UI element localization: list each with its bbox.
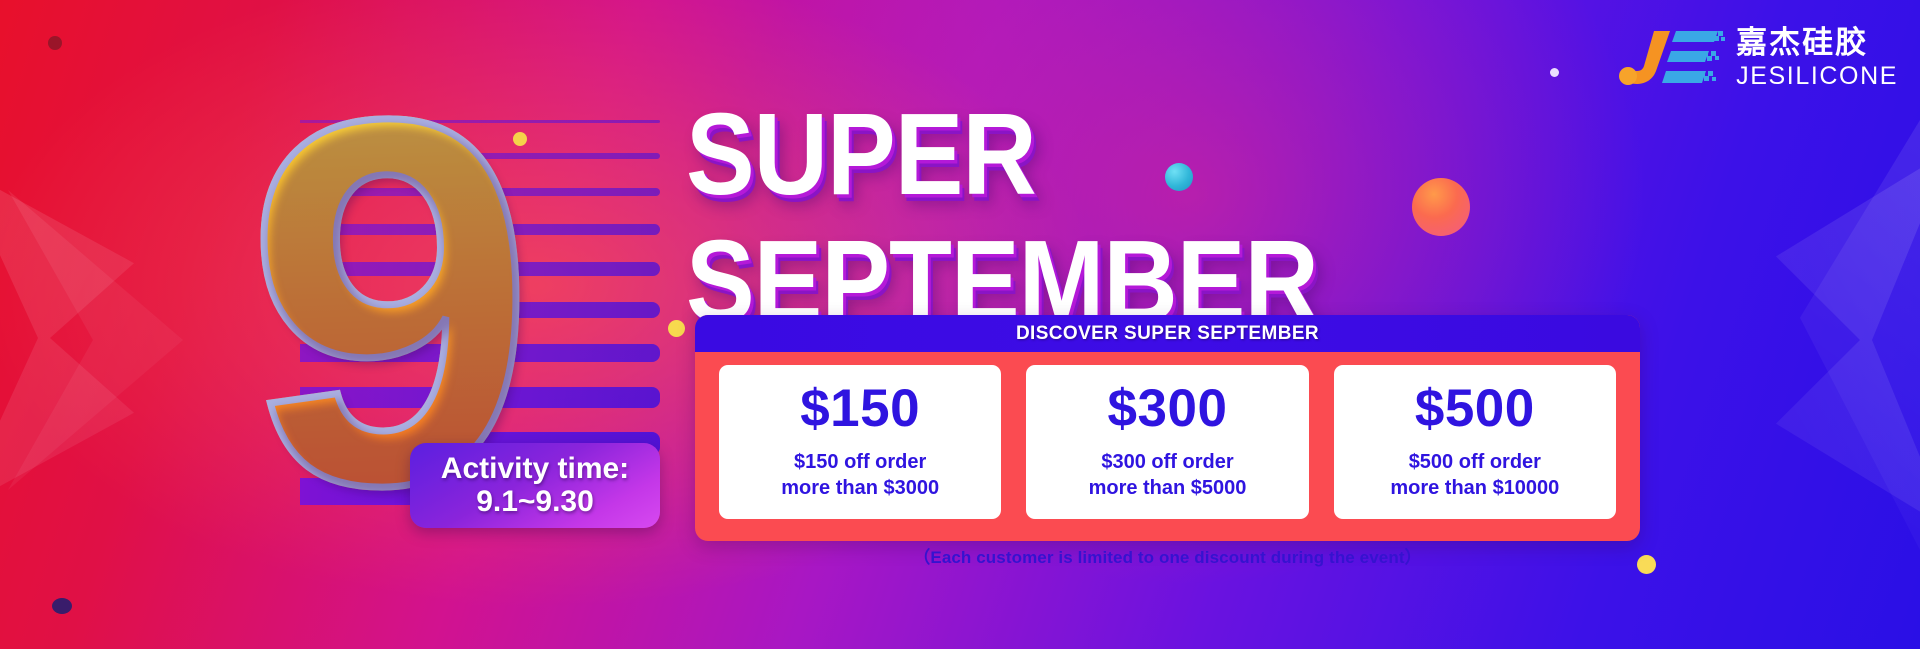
headline-line-super: SUPER [686, 100, 1438, 211]
brand-name-cn: 嘉杰硅胶 [1736, 27, 1898, 60]
promotional-banner: 9 SUPER SEPTEMBER Activity time: 9.1~9.3… [0, 0, 1920, 649]
promo-card-description-line: $500 off order [1390, 450, 1559, 476]
activity-time-label: Activity time: [441, 453, 629, 485]
promo-card-amount: $150 [800, 382, 920, 435]
chevron-right-decoration [1650, 150, 1920, 530]
dark-dot-decoration [48, 36, 62, 50]
yellow-dot-decoration [668, 320, 685, 337]
promo-card-list: $150$150 off ordermore than $3000$300$30… [695, 352, 1640, 541]
je-monogram-icon [1614, 27, 1726, 89]
promo-card-description-line: more than $3000 [781, 476, 939, 502]
activity-time-range: 9.1~9.30 [476, 485, 594, 519]
chevron-right-inner-decoration [1770, 120, 1920, 550]
promo-card[interactable]: $300$300 off ordermore than $5000 [1026, 365, 1308, 519]
brand-name-en: JESILICONE [1736, 62, 1898, 90]
promo-header-text: DISCOVER SUPER SEPTEMBER [1016, 323, 1319, 345]
promo-card[interactable]: $500$500 off ordermore than $10000 [1334, 365, 1616, 519]
promo-panel-header: DISCOVER SUPER SEPTEMBER [695, 315, 1640, 352]
headline: SUPER SEPTEMBER [686, 100, 1446, 326]
promo-card-amount: $500 [1415, 382, 1535, 435]
promo-card-description-line: $300 off order [1089, 450, 1247, 476]
promo-card-description-line: more than $10000 [1390, 476, 1559, 502]
chevron-left-inner-decoration [8, 190, 258, 490]
promo-disclaimer-note: （Each customer is limited to one discoun… [695, 543, 1640, 568]
promo-card-description-line: more than $5000 [1089, 476, 1247, 502]
promo-panel: DISCOVER SUPER SEPTEMBER $150$150 off or… [695, 315, 1640, 541]
promo-card-description-line: $150 off order [781, 450, 939, 476]
dark-dot-decoration [52, 598, 72, 614]
promo-card-description: $300 off ordermore than $5000 [1089, 450, 1247, 501]
promo-card[interactable]: $150$150 off ordermore than $3000 [719, 365, 1001, 519]
promo-card-description: $500 off ordermore than $10000 [1390, 450, 1559, 501]
white-dot-decoration [1550, 68, 1559, 77]
promo-card-description: $150 off ordermore than $3000 [781, 450, 939, 501]
brand-logo[interactable]: 嘉杰硅胶 JESILICONE [1614, 27, 1898, 90]
activity-time-badge: Activity time: 9.1~9.30 [410, 443, 660, 528]
promo-card-amount: $300 [1108, 382, 1228, 435]
chevron-left-decoration [0, 168, 260, 508]
brand-logo-text: 嘉杰硅胶 JESILICONE [1736, 27, 1898, 90]
